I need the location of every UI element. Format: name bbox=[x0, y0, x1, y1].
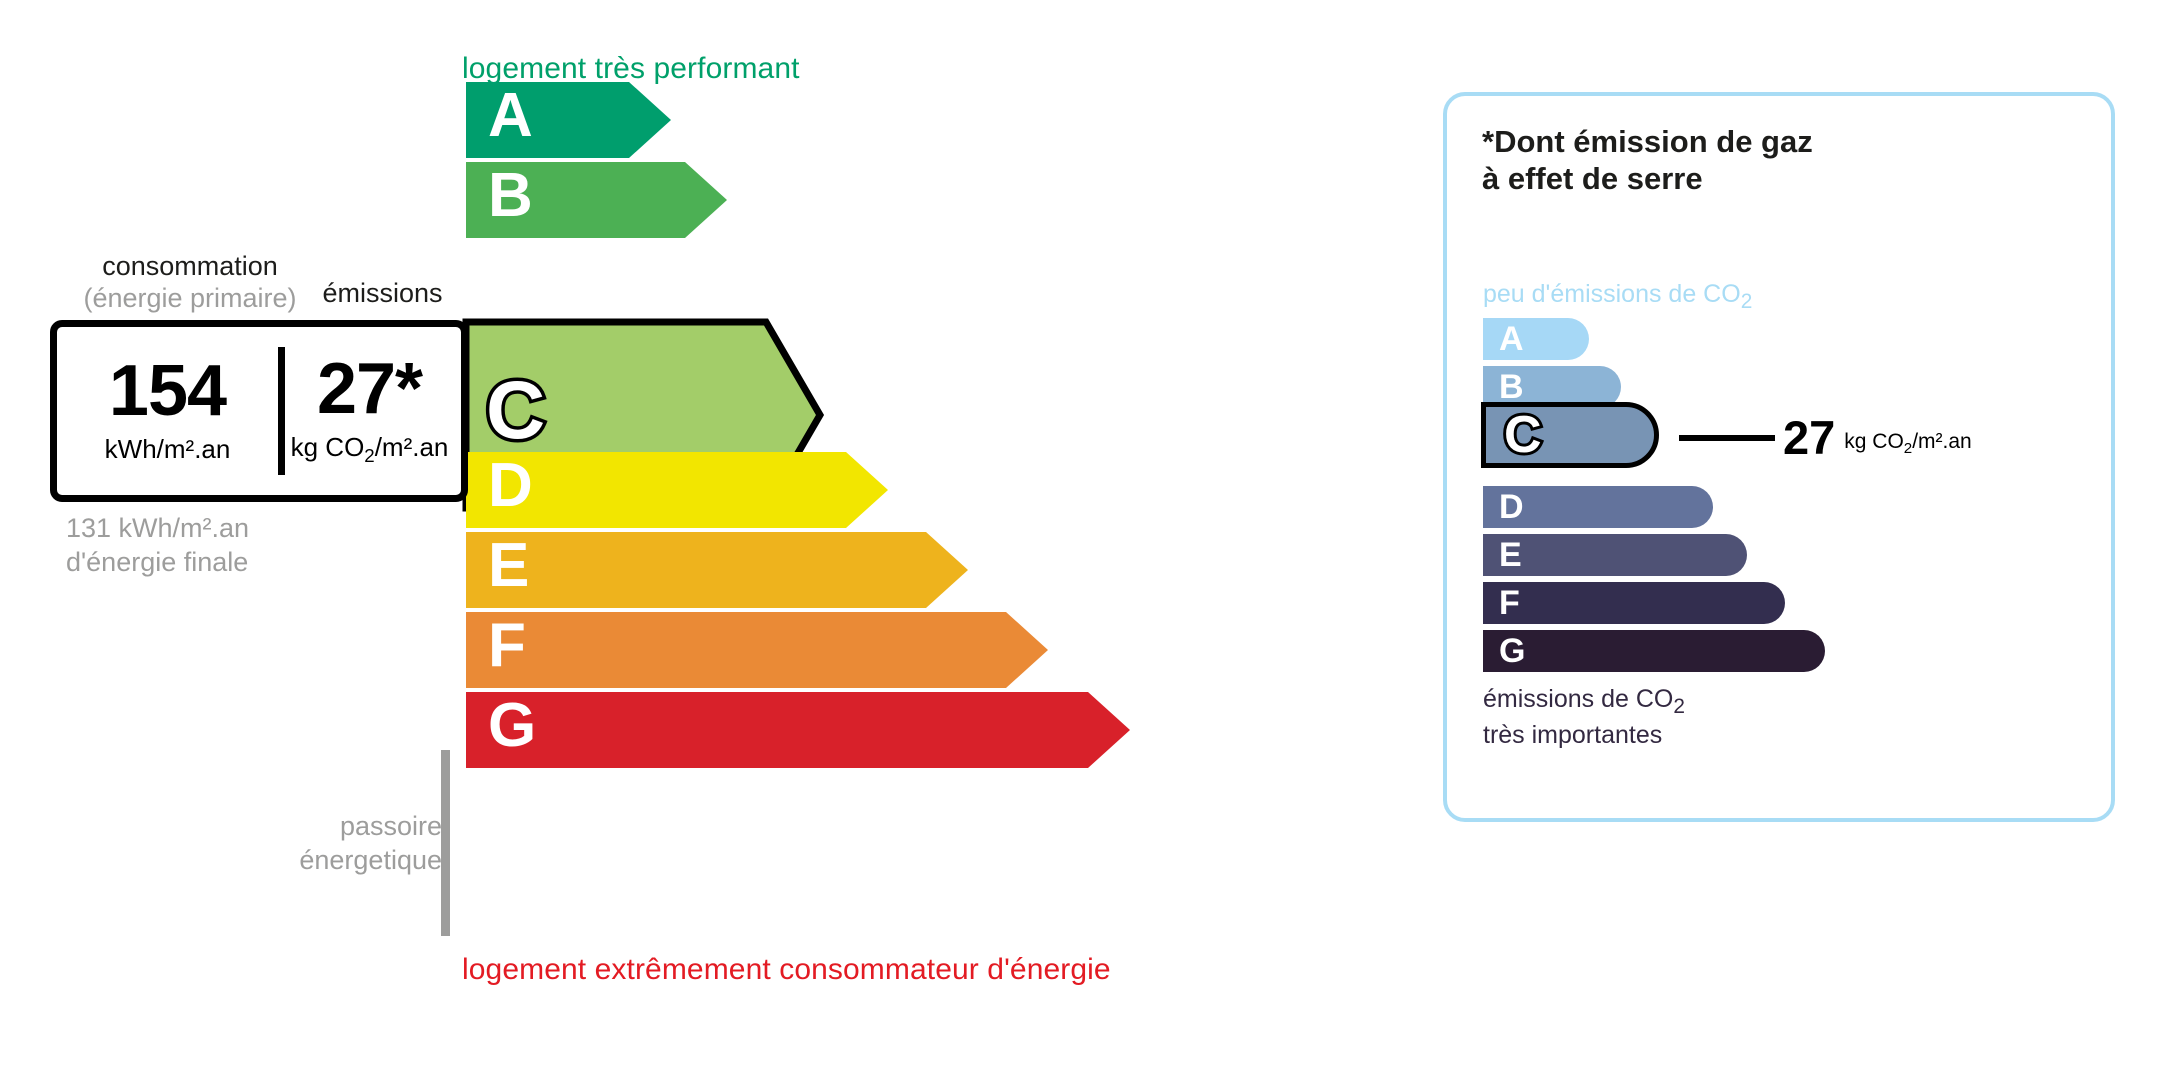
ges-top-caption-subscript: 2 bbox=[1741, 290, 1753, 313]
energy-grade-b: B bbox=[462, 158, 723, 234]
energy-grade-g: G bbox=[462, 688, 1126, 764]
ges-co2-e-letter: E bbox=[1499, 538, 1522, 572]
final-energy-note: 131 kWh/m².an d'énergie finale bbox=[66, 512, 249, 580]
arrow-shape bbox=[462, 608, 1054, 694]
ges-co2-a-letter: A bbox=[1499, 322, 1524, 356]
energy-grade-a-letter: A bbox=[488, 85, 533, 147]
value-box: 154 kWh/m².an 27* kg CO2/m².an bbox=[50, 320, 468, 502]
consumption-value: 154 bbox=[109, 357, 226, 425]
energy-performance-chart: logement très performant consommation (é… bbox=[0, 0, 1400, 1079]
emissions-unit: kg CO2/m².an bbox=[291, 432, 449, 467]
ges-co2-c-letter: C bbox=[1504, 409, 1542, 461]
ges-value: 27 bbox=[1783, 414, 1835, 461]
ges-co2-a: A bbox=[1483, 318, 1589, 360]
ges-co2-d-bar: D bbox=[1483, 486, 1713, 528]
arrow-shape bbox=[462, 528, 974, 614]
energy-grade-a: A bbox=[462, 78, 667, 154]
consumption-header-line1: consommation bbox=[102, 251, 278, 281]
ges-panel: *Dont émission de gaz à effet de serre p… bbox=[1443, 92, 2115, 822]
ges-top-caption: peu d'émissions de CO2 bbox=[1483, 280, 1752, 314]
final-energy-line2: d'énergie finale bbox=[66, 546, 249, 580]
energy-grade-d: D bbox=[462, 448, 884, 524]
consumption-unit: kWh/m².an bbox=[105, 434, 231, 465]
arrow-shape bbox=[462, 688, 1136, 774]
energy-grade-e: E bbox=[462, 528, 964, 604]
final-energy-line1: 131 kWh/m².an bbox=[66, 512, 249, 546]
passoire-line1: passoire bbox=[250, 810, 442, 844]
emissions-unit-suffix: /m².an bbox=[375, 432, 449, 462]
ges-co2-e: E bbox=[1483, 534, 1747, 576]
ges-bottom-caption-line2: très importantes bbox=[1483, 720, 1685, 750]
ges-co2-f-letter: F bbox=[1499, 586, 1520, 620]
ges-bottom-caption-line1: émissions de CO2 bbox=[1483, 684, 1685, 720]
passoire-label: passoire énergetique bbox=[250, 810, 442, 878]
ges-value-unit: kg CO2/m².an bbox=[1844, 430, 1971, 461]
ges-value-callout: 27kg CO2/m².an bbox=[1679, 414, 1972, 461]
energy-grade-c-letter: C bbox=[486, 370, 545, 452]
ges-top-caption-text: peu d'émissions de CO bbox=[1483, 280, 1741, 308]
ges-panel-title: *Dont émission de gaz à effet de serre bbox=[1482, 124, 1813, 197]
energy-grade-e-letter: E bbox=[488, 535, 529, 597]
ges-co2-d-letter: D bbox=[1499, 490, 1524, 524]
consumption-cell: 154 kWh/m².an bbox=[57, 327, 278, 495]
ges-co2-f: F bbox=[1483, 582, 1785, 624]
consumption-header: consommation (énergie primaire) bbox=[70, 251, 310, 315]
ges-title-line2: à effet de serre bbox=[1482, 161, 1813, 198]
emissions-value: 27* bbox=[317, 355, 422, 423]
ges-co2-g-bar: G bbox=[1483, 630, 1825, 672]
emissions-unit-prefix: kg CO bbox=[291, 432, 365, 462]
chart-bottom-caption: logement extrêmement consommateur d'éner… bbox=[462, 953, 1111, 987]
ges-title-line1: *Dont émission de gaz bbox=[1482, 124, 1813, 161]
energy-grade-f-letter: F bbox=[488, 615, 526, 677]
ges-co2-e-bar: E bbox=[1483, 534, 1747, 576]
emissions-cell: 27* kg CO2/m².an bbox=[278, 327, 461, 495]
ges-co2-g: G bbox=[1483, 630, 1825, 672]
ges-bottom-caption-text: émissions de CO bbox=[1483, 685, 1673, 713]
consumption-header-line2: (énergie primaire) bbox=[70, 283, 310, 315]
ges-co2-g-letter: G bbox=[1499, 634, 1525, 668]
energy-grade-b-letter: B bbox=[488, 165, 533, 227]
ges-co2-a-bar: A bbox=[1483, 318, 1589, 360]
ges-co2-c: C bbox=[1483, 402, 1659, 468]
ges-co2-d: D bbox=[1483, 486, 1713, 528]
dpe-diagram: logement très performant consommation (é… bbox=[0, 0, 2169, 1079]
energy-grade-d-letter: D bbox=[488, 455, 533, 517]
ges-bottom-caption: émissions de CO2 très importantes bbox=[1483, 684, 1685, 750]
ges-co2-c-bar: C bbox=[1481, 402, 1659, 468]
energy-grade-f: F bbox=[462, 608, 1044, 684]
emissions-unit-subscript: 2 bbox=[364, 445, 374, 466]
ges-co2-b-letter: B bbox=[1499, 370, 1524, 404]
ges-co2-f-bar: F bbox=[1483, 582, 1785, 624]
callout-leader-line bbox=[1679, 435, 1775, 441]
passoire-line2: énergetique bbox=[250, 844, 442, 878]
energy-grade-g-letter: G bbox=[488, 695, 536, 757]
emissions-header: émissions bbox=[300, 278, 465, 309]
ges-bottom-caption-subscript: 2 bbox=[1673, 695, 1685, 718]
passoire-bracket bbox=[441, 750, 450, 936]
